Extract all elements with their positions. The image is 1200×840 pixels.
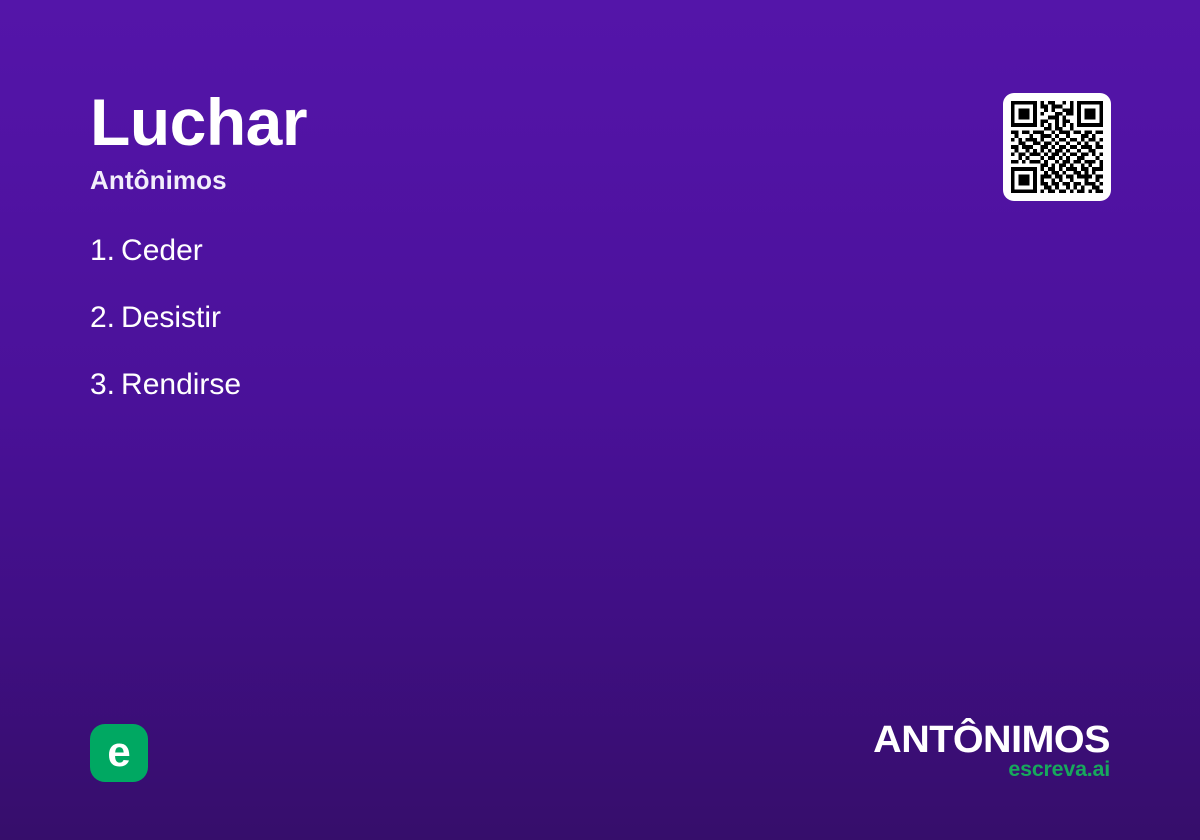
page-title: Luchar (90, 88, 790, 157)
list-item-index: 3. (90, 370, 115, 400)
escreva-logo-icon[interactable]: e (90, 724, 148, 782)
antonyms-card: Luchar Antônimos 1.Ceder 2.Desistir 3.Re… (0, 0, 1200, 840)
list-item: 1.Ceder (90, 236, 850, 266)
qr-code-card[interactable] (1003, 93, 1111, 201)
antonyms-list: 1.Ceder 2.Desistir 3.Rendirse (90, 236, 850, 437)
list-item: 2.Desistir (90, 303, 850, 333)
list-item-label: Ceder (121, 234, 203, 267)
word-block: Luchar Antônimos (90, 88, 790, 196)
qr-code-icon (1011, 101, 1103, 193)
list-item: 3.Rendirse (90, 370, 850, 400)
brand-badge-letter: e (107, 731, 130, 773)
wordmark-primary: ANTÔNIMOS (840, 722, 1110, 758)
list-item-label: Desistir (121, 301, 221, 334)
list-item-label: Rendirse (121, 368, 241, 401)
category-label: Antônimos (90, 165, 790, 196)
list-item-index: 2. (90, 303, 115, 333)
list-item-index: 1. (90, 236, 115, 266)
brand-wordmark: ANTÔNIMOS escreva.ai (850, 722, 1110, 780)
wordmark-secondary: escreva.ai (845, 759, 1110, 780)
